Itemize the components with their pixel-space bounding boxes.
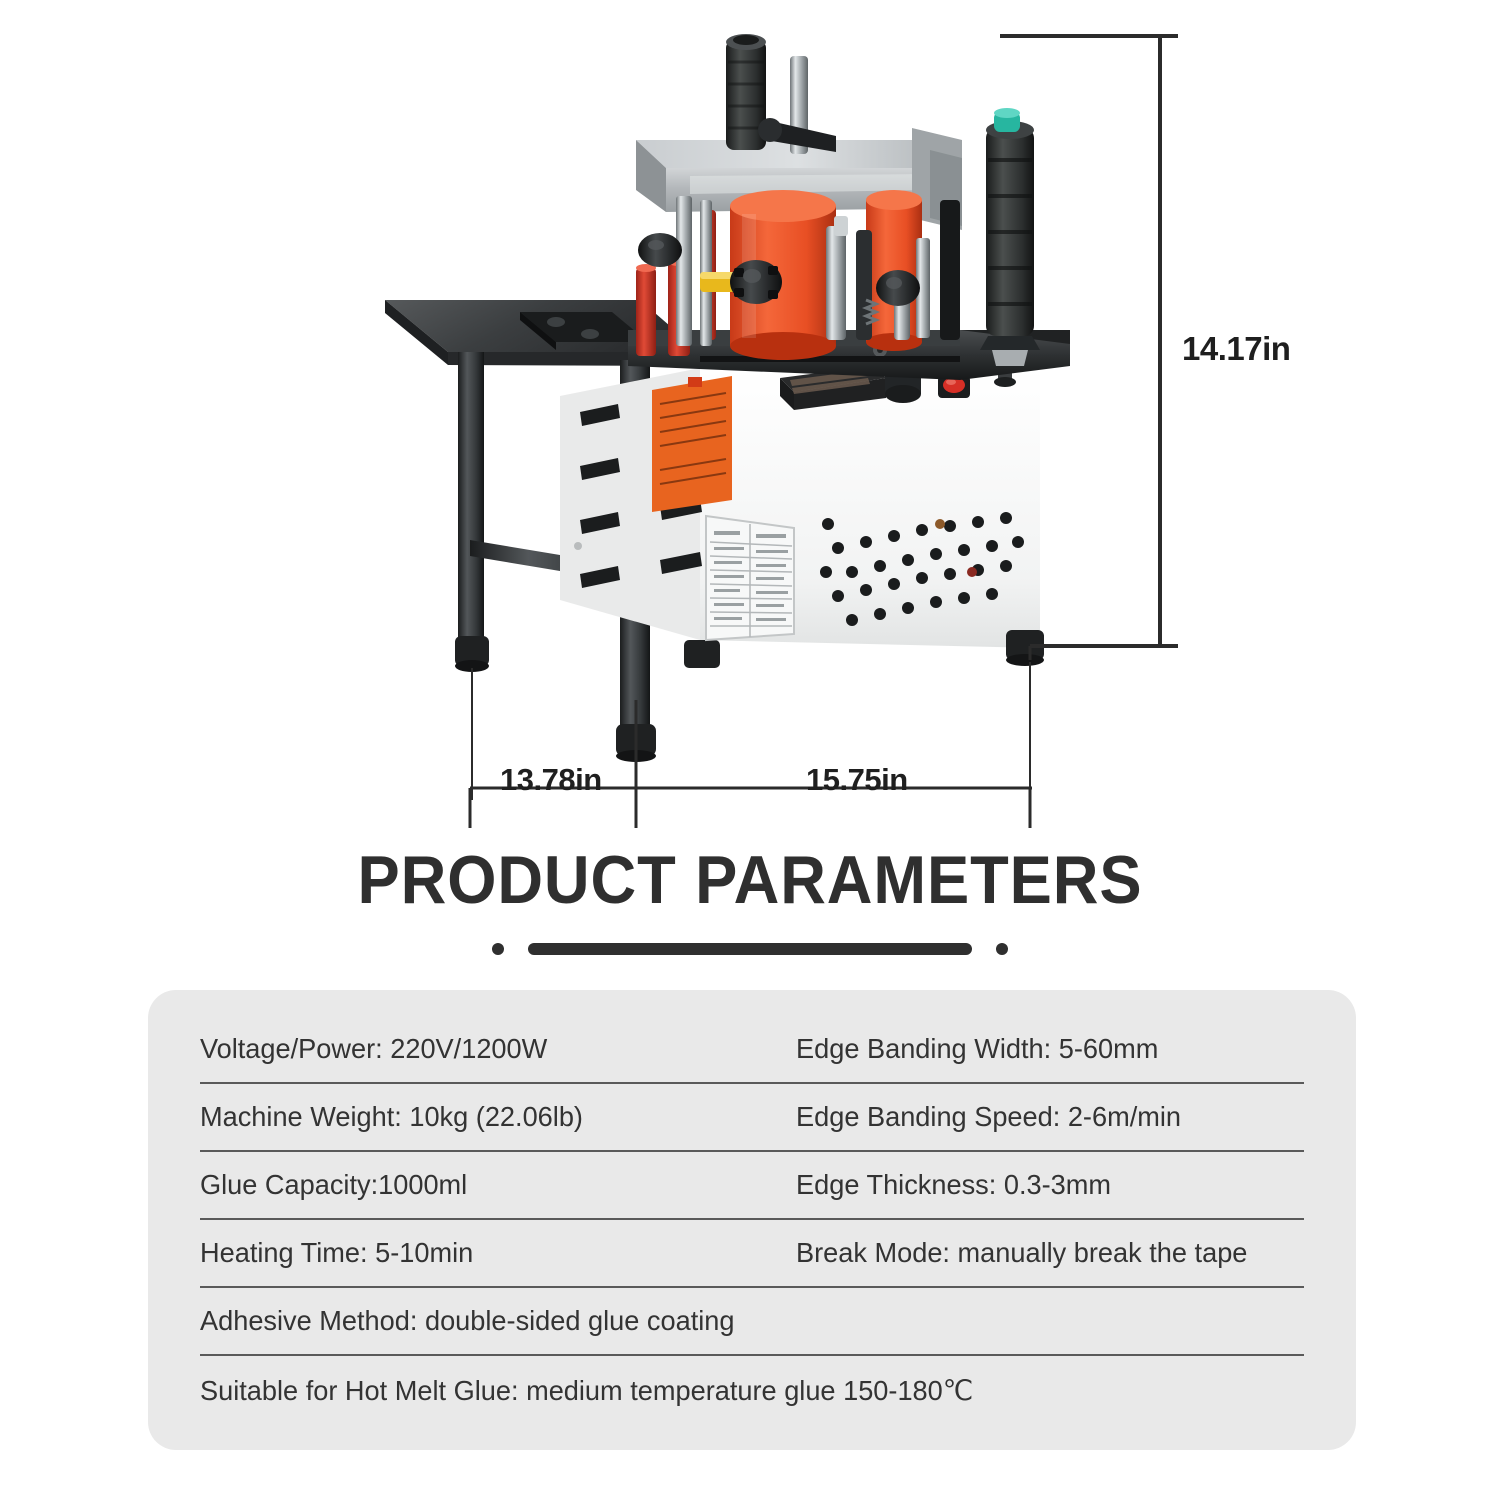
ornament-bar [528,943,972,955]
spec-row: Machine Weight: 10kg (22.06lb) Edge Band… [200,1084,1304,1152]
feeder-grip [726,34,836,154]
spec-break-mode: Break Mode: manually break the tape [796,1237,1289,1269]
title-ornament [470,938,1030,960]
spec-row: Adhesive Method: double-sided glue coati… [200,1288,1304,1356]
spec-heating-time: Heating Time: 5-10min [200,1237,778,1269]
spec-banding-width: Edge Banding Width: 5-60mm [796,1033,1289,1065]
dimension-width-label: 15.75in [806,762,908,798]
machine-handle [980,108,1040,366]
spec-glue-capacity: Glue Capacity:1000ml [200,1169,778,1201]
page-title: PRODUCT PARAMETERS [53,845,1448,916]
spec-row: Suitable for Hot Melt Glue: medium tempe… [200,1356,1304,1424]
adjustment-knob-left[interactable] [638,233,682,267]
handle-cap-green [994,108,1020,132]
spec-edge-thickness: Edge Thickness: 0.3-3mm [796,1169,1289,1201]
spec-adhesive-method: Adhesive Method: double-sided glue coati… [200,1305,1271,1337]
title-block: PRODUCT PARAMETERS [0,845,1500,960]
dimension-height-label: 14.17in [1182,330,1290,368]
adjustment-knob-main[interactable] [730,260,782,304]
spec-row: Voltage/Power: 220V/1200W Edge Banding W… [200,1016,1304,1084]
orange-warning-label [652,376,732,512]
spec-hot-melt-glue: Suitable for Hot Melt Glue: medium tempe… [200,1374,1271,1407]
spec-voltage-power: Voltage/Power: 220V/1200W [200,1033,778,1065]
ornament-dot-left [492,943,504,955]
specification-plate [706,516,794,640]
dimension-depth-label: 13.78in [500,762,602,798]
spec-banding-speed: Edge Banding Speed: 2-6m/min [796,1101,1289,1133]
spec-row: Heating Time: 5-10min Break Mode: manual… [200,1220,1304,1288]
spec-machine-weight: Machine Weight: 10kg (22.06lb) [200,1101,778,1133]
adjustment-knob-right[interactable] [876,270,920,306]
product-image [0,0,1500,840]
specifications-panel: Voltage/Power: 220V/1200W Edge Banding W… [148,990,1356,1450]
ornament-dot-right [996,943,1008,955]
spec-row: Glue Capacity:1000ml Edge Thickness: 0.3… [200,1152,1304,1220]
product-spec-page: 14.17in 13.78in 15.75in PRODUCT PARAMETE… [0,0,1500,1500]
